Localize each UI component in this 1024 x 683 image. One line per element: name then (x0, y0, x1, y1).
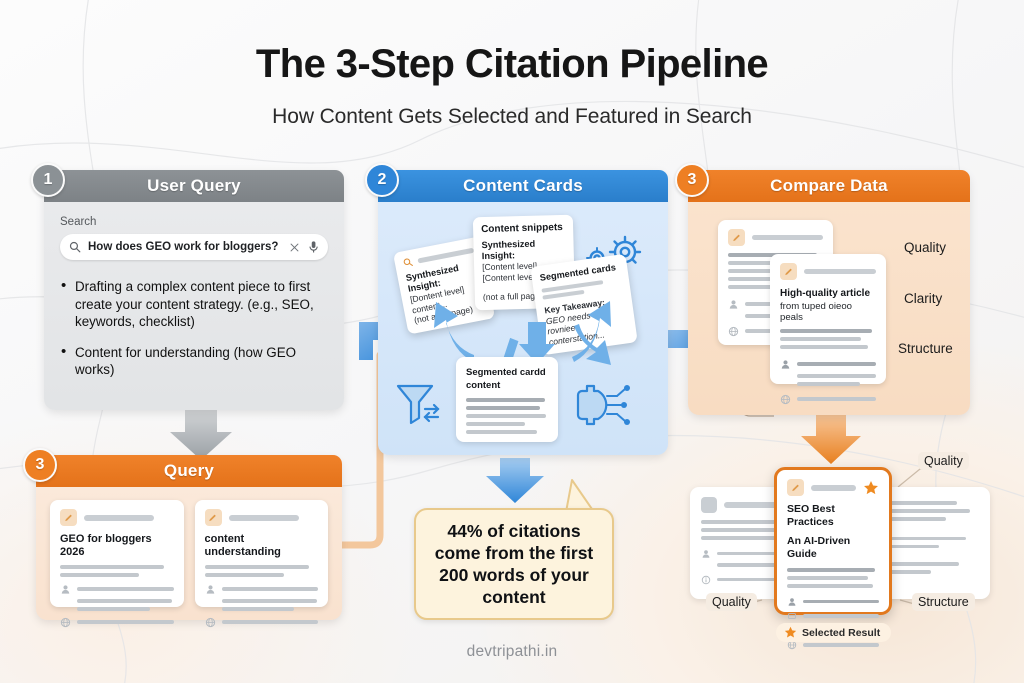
bank-icon (787, 611, 797, 621)
person-icon (701, 549, 711, 559)
panel-query-header: 3 Query (36, 455, 342, 487)
pencil-icon (787, 479, 804, 496)
panel-query: 3 Query GEO for bloggers 2026 (36, 455, 342, 620)
star-icon (784, 626, 797, 639)
label-quality-result-bottom: Quality (706, 593, 757, 611)
panel-user-query: 1 User Query Search How does GEO work fo… (44, 170, 344, 410)
statistic-callout: 44% of citations come from the first 200… (414, 508, 614, 620)
selected-result-badge-label: Selected Result (802, 627, 880, 639)
compare-front-card-subtitle: from tuped oieoo peals (780, 301, 876, 323)
selected-result-card[interactable]: SEO Best Practices An AI-Driven Guide (774, 467, 892, 615)
person-icon (787, 597, 797, 607)
selected-result-badge: Selected Result (776, 623, 891, 642)
compare-front-card: High-quality article from tuped oieoo pe… (770, 254, 886, 384)
arrow-down-blue (486, 458, 544, 503)
ai-chip-icon (574, 380, 636, 430)
segmented-card-title: Segmented cardd content (466, 366, 548, 392)
panel-query-title: Query (164, 461, 214, 481)
label-structure-compare: Structure (898, 341, 953, 356)
label-clarity-compare: Clarity (904, 291, 942, 306)
page-subtitle: How Content Gets Selected and Featured i… (0, 105, 1024, 129)
infographic-canvas: The 3-Step Citation Pipeline How Content… (0, 0, 1024, 683)
panel-content-cards-body: Synthesized Insight: [Dontent level] con… (378, 202, 668, 455)
globe-icon (205, 617, 216, 628)
step-badge-3: 3 (675, 163, 709, 197)
search-icon (69, 241, 81, 253)
compare-front-card-title: High-quality article (780, 287, 876, 300)
globe-icon (60, 617, 71, 628)
label-structure-result: Structure (912, 593, 975, 611)
step-badge-1: 1 (31, 163, 65, 197)
connector-query-to-cards (342, 355, 380, 545)
arrow-down-gray (170, 408, 232, 460)
panel-user-query-title: User Query (147, 176, 241, 196)
panel-query-body: GEO for bloggers 2026 (36, 487, 342, 620)
search-input[interactable]: How does GEO work for bloggers? (60, 234, 328, 260)
microphone-icon[interactable] (308, 240, 319, 254)
step-badge-3b: 3 (23, 448, 57, 482)
selected-card-title-line1: SEO Best Practices (787, 503, 879, 529)
panel-compare-data-body: High-quality article from tuped oieoo pe… (688, 202, 970, 415)
person-icon (780, 359, 791, 370)
panel-user-query-body: Search How does GEO work for bloggers? (44, 202, 344, 410)
star-icon (863, 480, 879, 496)
list-item: Drafting a complex content piece to firs… (60, 278, 328, 331)
person-icon (60, 584, 71, 595)
query-card[interactable]: GEO for bloggers 2026 (50, 500, 184, 607)
arrow-down-orange (801, 414, 861, 464)
globe-icon (780, 394, 791, 405)
globe-icon (728, 326, 739, 337)
pencil-icon (728, 229, 745, 246)
list-item: Content for understanding (how GEO works… (60, 344, 328, 379)
pencil-icon (205, 509, 222, 526)
panel-compare-data-header: 3 Compare Data (688, 170, 970, 202)
panel-content-cards: 2 Content Cards (378, 170, 668, 455)
close-icon[interactable] (289, 242, 300, 253)
panel-content-cards-header: 2 Content Cards (378, 170, 668, 202)
label-quality-compare: Quality (904, 240, 946, 255)
pencil-icon (60, 509, 77, 526)
panel-user-query-header: 1 User Query (44, 170, 344, 202)
pencil-icon (780, 263, 797, 280)
person-icon (728, 299, 739, 310)
label-quality-result-top: Quality (918, 452, 969, 470)
segmented-card-content: Segmented cardd content (456, 357, 558, 442)
search-label: Search (60, 216, 328, 228)
query-card-title: content understanding (205, 533, 319, 559)
person-icon (205, 584, 216, 595)
query-bullet-list: Drafting a complex content piece to firs… (60, 278, 328, 379)
funnel-icon (394, 380, 444, 426)
panel-compare-data-title: Compare Data (770, 176, 888, 196)
query-card[interactable]: content understanding (195, 500, 329, 607)
search-input-value: How does GEO work for bloggers? (88, 241, 289, 253)
query-card-title: GEO for bloggers 2026 (60, 533, 174, 559)
page-title: The 3-Step Citation Pipeline (0, 42, 1024, 87)
panel-content-cards-title: Content Cards (463, 176, 583, 196)
step-badge-2: 2 (365, 163, 399, 197)
selected-card-title-line2: An AI-Driven Guide (787, 535, 879, 561)
info-icon (701, 575, 711, 585)
